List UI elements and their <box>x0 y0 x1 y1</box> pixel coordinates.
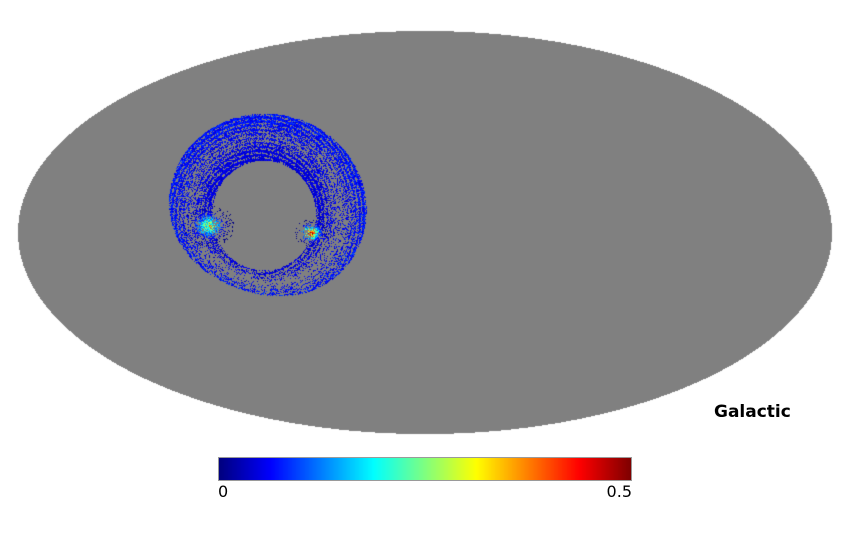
coordinate-system-label: Galactic <box>714 402 791 422</box>
colorbar: 0 0.5 <box>218 457 632 481</box>
colorbar-min-tick: 0 <box>218 482 228 501</box>
figure-root: I Stokes Galactic 0 0.5 <box>0 0 850 540</box>
colorbar-max-tick: 0.5 <box>607 482 632 501</box>
colorbar-gradient <box>218 457 632 481</box>
